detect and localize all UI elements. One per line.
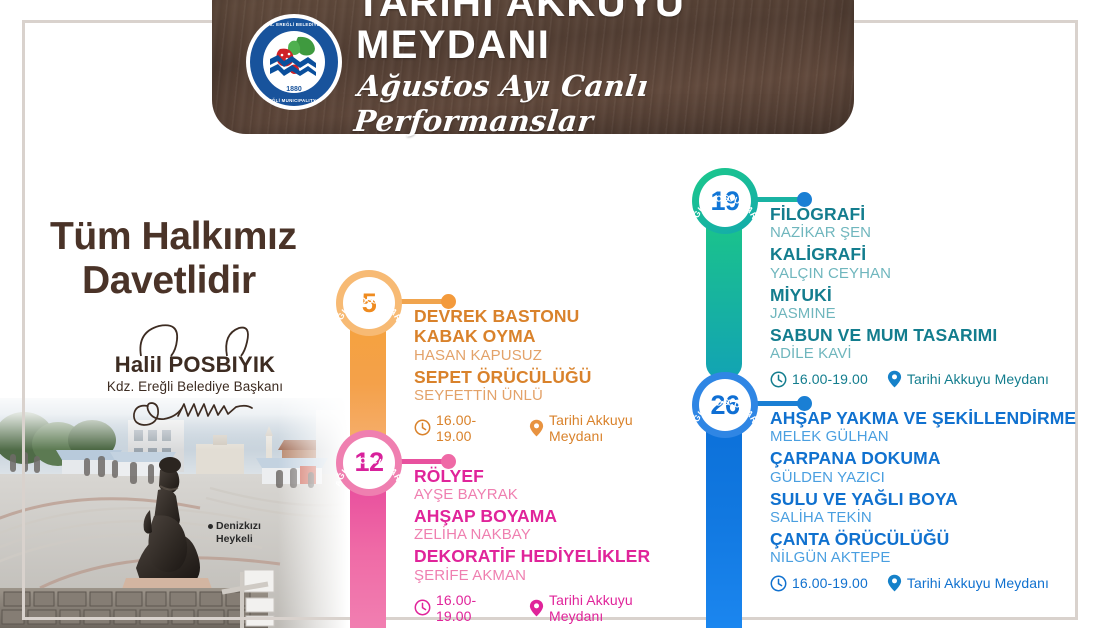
event-card-19: 19 AĞUSTOS • CUMARTESİ FİLOGRAFİ NAZİKAR…	[692, 168, 1088, 388]
act-title: KABAK OYMA	[414, 326, 688, 346]
event-time-12: 16.00-19.00	[436, 592, 510, 624]
act-title: ÇANTA ÖRÜCÜLÜĞÜ	[770, 529, 1088, 549]
invitation-line-1: Tüm Halkımız	[50, 215, 350, 259]
act-title: MİYUKİ	[770, 285, 1088, 305]
event-time-26: 16.00-19.00	[792, 575, 868, 591]
event-card-5: 5 AĞUSTOS • CUMARTESİ DEVREK BASTONU KAB…	[336, 270, 688, 444]
clock-icon	[414, 599, 431, 616]
event-poster: Denizkızı Heykeli KDZ. EREĞLİ BELEDİYESİ…	[0, 0, 1100, 628]
act-name: ZELİHA NAKBAY	[414, 526, 688, 544]
seal-emblem-icon	[268, 35, 320, 79]
act-name: YALÇIN CEYHAN	[770, 265, 1088, 283]
mayor-title: Kdz. Ereğli Belediye Başkanı	[50, 379, 340, 394]
seal-top-text: KDZ. EREĞLİ BELEDİYESİ	[246, 22, 342, 27]
caption-line-1: Denizkızı	[216, 520, 261, 532]
timeline-column-left: 5 AĞUSTOS • CUMARTESİ DEVREK BASTONU KAB…	[336, 270, 688, 624]
event-place-26: Tarihi Akkuyu Meydanı	[907, 575, 1049, 591]
page-subtitle: Ağustos Ayı Canlı Performanslar	[352, 69, 857, 139]
act-title: DEVREK BASTONU	[414, 306, 688, 326]
mayor-name: Halil POSBIYIK	[50, 352, 340, 378]
act-name: ŞERİFE AKMAN	[414, 567, 688, 585]
act-name: ADİLE KAVİ	[770, 345, 1088, 363]
mayor-signature-icon	[100, 396, 290, 430]
act-name: SEYFETTİN ÜNLÜ	[414, 387, 688, 405]
clock-icon	[770, 575, 787, 592]
act-name: SALİHA TEKİN	[770, 509, 1088, 527]
act-name: GÜLDEN YAZICI	[770, 469, 1088, 487]
event-place-12: Tarihi Akkuyu Meydanı	[549, 592, 688, 624]
act-name: JASMINE	[770, 305, 1088, 323]
event-body-12: RÖLYEF AYŞE BAYRAK AHŞAP BOYAMA ZELİHA N…	[336, 430, 688, 624]
invitation-line-2: Davetlidir	[50, 259, 350, 303]
act-title: RÖLYEF	[414, 466, 688, 486]
act-title: FİLOGRAFİ	[770, 204, 1088, 224]
act-name: HASAN KAPUSUZ	[414, 347, 688, 365]
mayor-block: Halil POSBIYIK Kdz. Ereğli Belediye Başk…	[50, 318, 350, 430]
municipality-seal-logo: KDZ. EREĞLİ BELEDİYESİ KDZ. EREĞLİ MUNIC…	[246, 14, 342, 110]
page-title: TARİHİ AKKUYU MEYDANI	[356, 0, 854, 66]
act-name: NİLGÜN AKTEPE	[770, 549, 1088, 567]
event-card-12: 12 AĞUSTOS • CUMARTESİ RÖLYEF AYŞE BAYRA…	[336, 430, 688, 624]
caption-bullet-icon	[208, 524, 213, 529]
event-body-5: DEVREK BASTONU KABAK OYMA HASAN KAPUSUZ …	[336, 270, 688, 444]
event-card-26: 26 AĞUSTOS • CUMARTESİ AHŞAP YAKMA VE ŞE…	[692, 372, 1088, 592]
act-title: ÇARPANA DOKUMA	[770, 448, 1088, 468]
act-title: DEKORATİF HEDİYELİKLER	[414, 546, 688, 566]
caption-line-2: Heykeli	[208, 533, 253, 545]
event-body-19: FİLOGRAFİ NAZİKAR ŞEN KALİGRAFİ YALÇIN C…	[692, 168, 1088, 388]
act-title: AHŞAP YAKMA VE ŞEKİLLENDİRME	[770, 408, 1088, 428]
act-title: SEPET ÖRÜCÜLÜĞÜ	[414, 367, 688, 387]
act-name: AYŞE BAYRAK	[414, 486, 688, 504]
event-body-26: AHŞAP YAKMA VE ŞEKİLLENDİRME MELEK GÜLHA…	[692, 372, 1088, 592]
act-name: NAZİKAR ŞEN	[770, 224, 1088, 242]
seal-bottom-text: KDZ. EREĞLİ MUNICIPALITY TURKIYE	[246, 98, 342, 103]
act-title: KALİGRAFİ	[770, 244, 1088, 264]
act-name: MELEK GÜLHAN	[770, 428, 1088, 446]
location-pin-icon	[887, 574, 902, 592]
act-title: SABUN VE MUM TASARIMI	[770, 325, 1088, 345]
invitation-block: Tüm Halkımız Davetlidir Halil POSBIYIK K…	[50, 215, 350, 430]
photo-caption: Denizkızı Heykeli	[208, 520, 261, 546]
act-title: SULU VE YAĞLI BOYA	[770, 489, 1088, 509]
event-meta-26: 16.00-19.00 Tarihi Akkuyu Meydanı	[770, 574, 1088, 592]
location-pin-icon	[529, 599, 544, 617]
header-banner: KDZ. EREĞLİ BELEDİYESİ KDZ. EREĞLİ MUNIC…	[212, 0, 854, 134]
event-meta-12: 16.00-19.00 Tarihi Akkuyu Meydanı	[414, 592, 688, 624]
seal-year: 1880	[246, 86, 342, 93]
act-title: AHŞAP BOYAMA	[414, 506, 688, 526]
timeline-column-right: 19 AĞUSTOS • CUMARTESİ FİLOGRAFİ NAZİKAR…	[692, 168, 1088, 592]
